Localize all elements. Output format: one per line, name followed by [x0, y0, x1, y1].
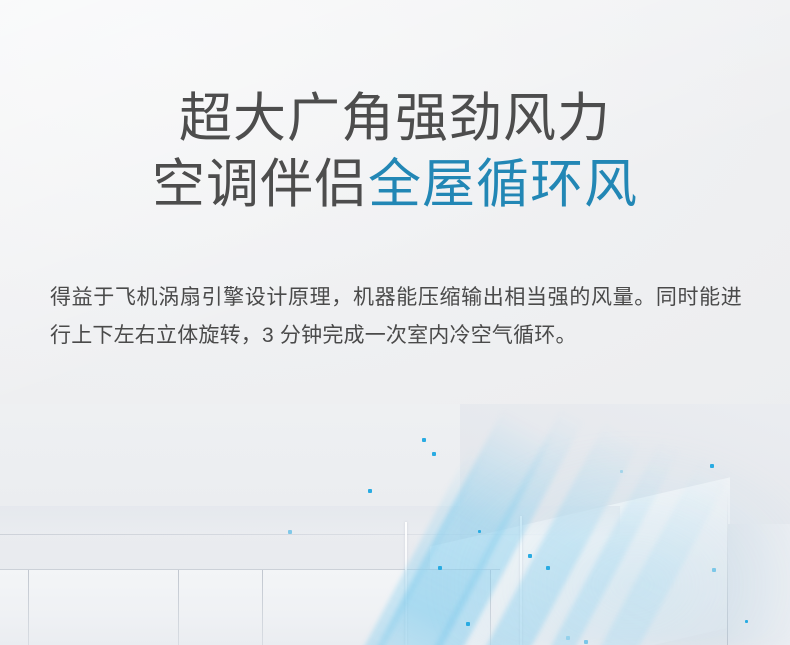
body-paragraph: 得益于飞机涡扇引擎设计原理，机器能压缩输出相当强的风量。同时能进行上下左右立体旋…: [50, 279, 742, 355]
headline-line-2-gray: 空调伴侣: [152, 155, 368, 214]
headline-line-2-accent: 全屋循环风: [368, 155, 638, 214]
headline-line-1: 超大广角强劲风力: [0, 86, 790, 152]
ceiling-edge-line: [0, 534, 560, 535]
headline: 超大广角强劲风力 空调伴侣全屋循环风: [0, 86, 790, 218]
body-copy: 得益于飞机涡扇引擎设计原理，机器能压缩输出相当强的风量。同时能进行上下左右立体旋…: [50, 279, 742, 355]
cabinet-divider: [178, 570, 179, 645]
headline-line-2: 空调伴侣全屋循环风: [0, 152, 790, 218]
promo-page: 超大广角强劲风力 空调伴侣全屋循环风 得益于飞机涡扇引擎设计原理，机器能压缩输出…: [0, 0, 790, 645]
ceiling-band: [0, 506, 620, 536]
vertical-post: [405, 522, 407, 645]
cabinet-divider: [262, 570, 263, 645]
cabinet-highlight-panel: [404, 570, 490, 645]
wall-corner-panel: [728, 524, 790, 645]
cabinet-divider: [28, 570, 29, 645]
vertical-post: [520, 516, 522, 645]
cabinet-divider: [490, 570, 491, 645]
wall-corner-edge: [727, 492, 728, 645]
room-scene-photo: [0, 404, 790, 645]
